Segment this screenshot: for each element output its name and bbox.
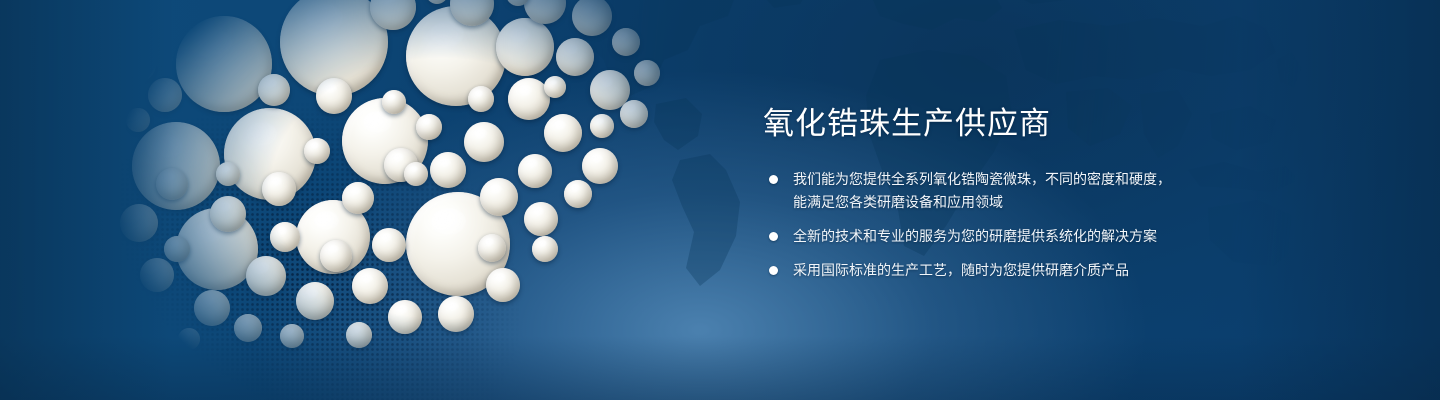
product-photo-zirconia-beads bbox=[120, 0, 740, 400]
hero-banner: 氧化锆珠生产供应商 我们能为您提供全系列氧化锆陶瓷微珠，不同的密度和硬度， 能满… bbox=[0, 0, 1440, 400]
banner-copy: 氧化锆珠生产供应商 我们能为您提供全系列氧化锆陶瓷微珠，不同的密度和硬度， 能满… bbox=[763, 104, 1233, 282]
feature-list: 我们能为您提供全系列氧化锆陶瓷微珠，不同的密度和硬度， 能满足您各类研磨设备和应… bbox=[763, 168, 1233, 282]
bullet-dot-icon bbox=[769, 232, 778, 241]
list-item-line: 能满足您各类研磨设备和应用领域 bbox=[793, 191, 1233, 214]
bullet-dot-icon bbox=[769, 266, 778, 275]
bullet-dot-icon bbox=[769, 175, 778, 184]
list-item: 采用国际标准的生产工艺，随时为您提供研磨介质产品 bbox=[763, 259, 1233, 282]
list-item-line: 采用国际标准的生产工艺，随时为您提供研磨介质产品 bbox=[793, 259, 1233, 282]
list-item: 全新的技术和专业的服务为您的研磨提供系统化的解决方案 bbox=[763, 225, 1233, 248]
list-item-line: 全新的技术和专业的服务为您的研磨提供系统化的解决方案 bbox=[793, 225, 1233, 248]
list-item: 我们能为您提供全系列氧化锆陶瓷微珠，不同的密度和硬度， 能满足您各类研磨设备和应… bbox=[763, 168, 1233, 214]
list-item-line: 我们能为您提供全系列氧化锆陶瓷微珠，不同的密度和硬度， bbox=[793, 168, 1233, 191]
page-title: 氧化锆珠生产供应商 bbox=[763, 104, 1233, 144]
